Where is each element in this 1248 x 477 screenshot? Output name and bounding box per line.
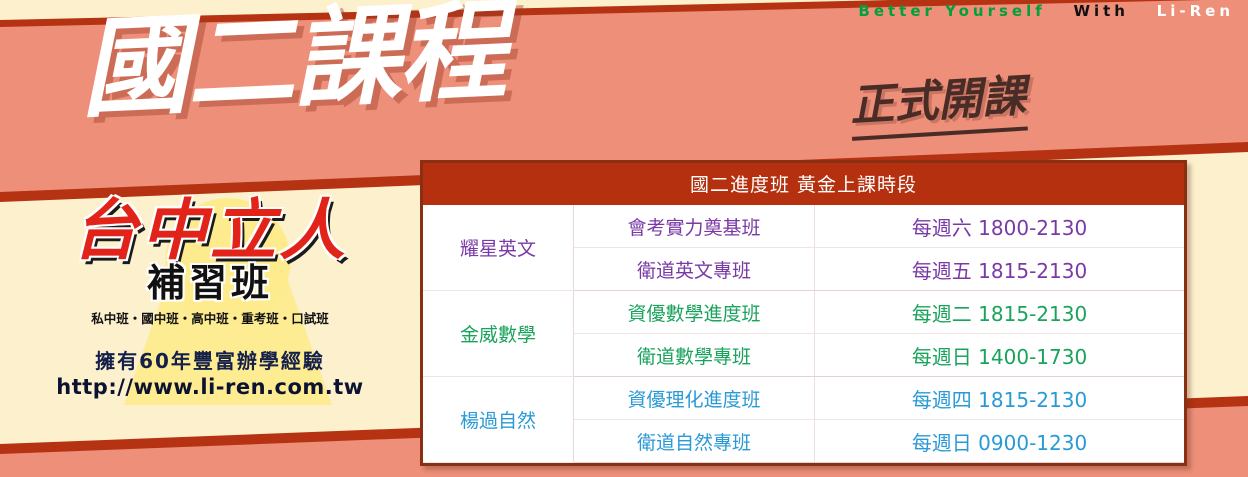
course-time-cell: 每週二 1815-2130 <box>815 291 1185 334</box>
table-row: 金威數學資優數學進度班每週二 1815-2130 <box>423 291 1184 334</box>
experience-text: 擁有60年豐富辦學經驗 <box>14 345 406 374</box>
tagline-part-3: Li-Ren <box>1157 2 1234 20</box>
course-name-cell: 衛道自然專班 <box>574 420 815 463</box>
promo-banner: Better Yourself With Li-Ren 國二課程 正式開課 台中… <box>0 0 1248 477</box>
tagline-part-2: With <box>1073 2 1129 20</box>
course-time-cell: 每週日 0900-1230 <box>815 420 1185 463</box>
tagline-part-1: Better Yourself <box>858 2 1045 20</box>
course-name-cell: 衛道數學專班 <box>574 334 815 377</box>
page-title: 國二課程 <box>78 0 506 124</box>
schedule-table: 耀星英文會考實力奠基班每週六 1800-2130衛道英文專班每週五 1815-2… <box>423 205 1184 463</box>
schedule-header: 國二進度班 黃金上課時段 <box>423 163 1184 205</box>
course-time-cell: 每週六 1800-2130 <box>815 205 1185 248</box>
course-time-cell: 每週五 1815-2130 <box>815 248 1185 291</box>
table-row: 耀星英文會考實力奠基班每週六 1800-2130 <box>423 205 1184 248</box>
website-url[interactable]: http://www.li-ren.com.tw <box>14 375 406 399</box>
course-name-cell: 資優數學進度班 <box>574 291 815 334</box>
subject-cell: 耀星英文 <box>423 205 574 291</box>
course-name-cell: 衛道英文專班 <box>574 248 815 291</box>
course-time-cell: 每週日 1400-1730 <box>815 334 1185 377</box>
brand-logo-block: 台中立人 補習班 私中班・國中班・高中班・重考班・口試班 擁有60年豐富辦學經驗… <box>14 196 406 399</box>
schedule-table-panel: 國二進度班 黃金上課時段 耀星英文會考實力奠基班每週六 1800-2130衛道英… <box>420 160 1187 466</box>
brand-class-list: 私中班・國中班・高中班・重考班・口試班 <box>14 308 406 327</box>
brand-subtitle: 補習班 <box>14 263 406 305</box>
course-name-cell: 會考實力奠基班 <box>574 205 815 248</box>
page-subtitle: 正式開課 <box>848 60 1028 141</box>
subject-cell: 楊過自然 <box>423 377 574 463</box>
brand-name: 台中立人 <box>14 196 406 265</box>
subject-cell: 金威數學 <box>423 291 574 377</box>
course-time-cell: 每週四 1815-2130 <box>815 377 1185 420</box>
table-row: 楊過自然資優理化進度班每週四 1815-2130 <box>423 377 1184 420</box>
course-name-cell: 資優理化進度班 <box>574 377 815 420</box>
